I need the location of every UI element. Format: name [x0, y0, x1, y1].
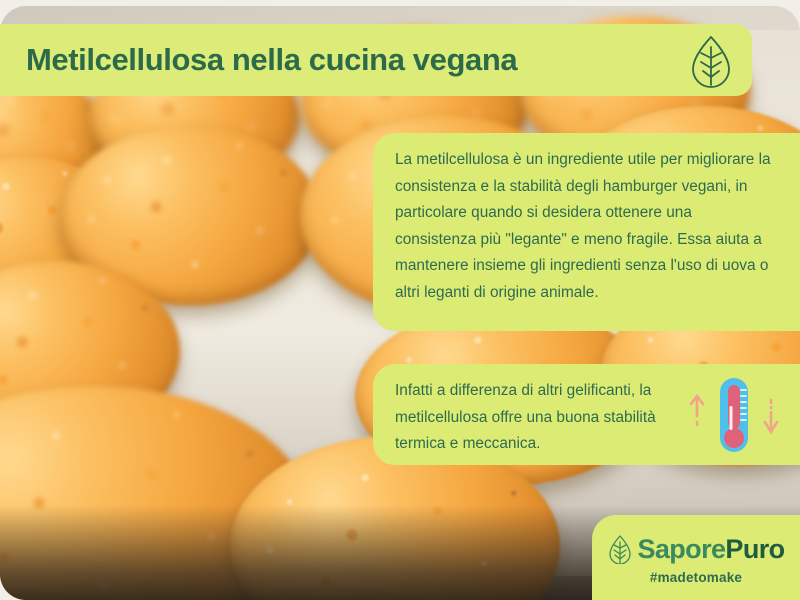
info-panel-secondary-text: Infatti a differenza di altri gelificant…	[395, 382, 656, 452]
leaf-icon	[607, 534, 633, 564]
thermometer-icon	[686, 376, 782, 454]
info-panel-primary-text: La metilcellulosa è un ingrediente utile…	[395, 151, 771, 301]
brand-logo-row: Sapore Puro	[607, 534, 784, 564]
info-panel-secondary: Infatti a differenza di altri gelificant…	[373, 364, 800, 465]
brand-tagline: #madetomake	[650, 570, 742, 585]
info-panel-primary: La metilcellulosa è un ingrediente utile…	[373, 133, 800, 331]
brand-name-light: Sapore	[637, 536, 725, 563]
title-bar: Metilcellulosa nella cucina vegana	[0, 24, 752, 96]
page-title: Metilcellulosa nella cucina vegana	[26, 42, 682, 78]
brand-logo: Sapore Puro #madetomake	[592, 515, 800, 600]
infographic-canvas: Metilcellulosa nella cucina vegana La me…	[0, 0, 800, 600]
brand-name-bold: Puro	[725, 536, 784, 563]
leaf-icon	[688, 34, 734, 86]
